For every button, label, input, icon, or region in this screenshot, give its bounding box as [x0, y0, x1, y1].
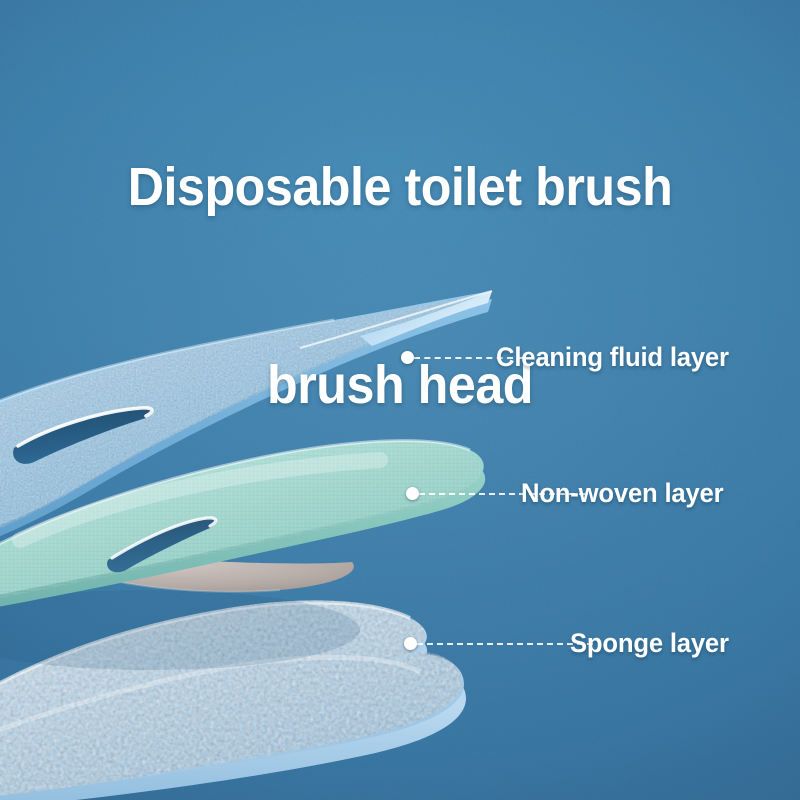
callout-cleaning-fluid-label: Cleaning fluid layer	[496, 342, 729, 372]
product-infographic: Disposable toilet brush brush head Clean…	[0, 0, 800, 800]
callout-sponge-dot	[404, 637, 417, 650]
product-layer-sponge	[0, 580, 520, 800]
callout-non-woven-dot	[406, 487, 419, 500]
callout-non-woven-label: Non-woven layer	[521, 478, 723, 508]
callout-sponge-label: Sponge layer	[570, 628, 729, 658]
page-title: Disposable toilet brush brush head	[28, 22, 772, 550]
callout-sponge-leader-line	[417, 643, 593, 645]
callout-cleaning-fluid-dot	[401, 351, 414, 364]
page-title-line-1: Disposable toilet brush	[28, 154, 772, 220]
